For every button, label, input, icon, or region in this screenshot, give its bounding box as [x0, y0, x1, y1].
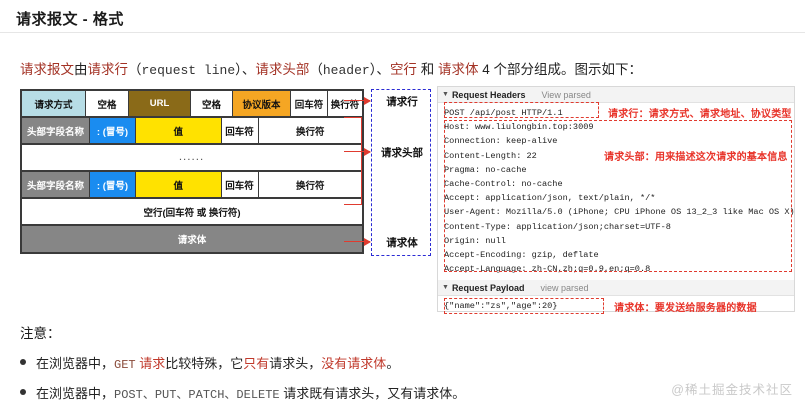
note2-a: 在浏览器中， [36, 386, 114, 401]
request-payload-title: Request Payload [452, 283, 525, 293]
cell-header-name-2: 头部字段名称 [22, 172, 90, 197]
view-parsed-headers-link[interactable]: View parsed [541, 90, 590, 100]
cell-blank-line: 空行(回车符 或 换行符) [22, 199, 362, 224]
subtitle-part-1: 请求报文 [20, 62, 74, 77]
diagram-row-request-line: 请求方式 空格 URL 空格 协议版本 回车符 换行符 [20, 89, 364, 116]
subtitle-part-13: 请求体 [438, 62, 479, 77]
note1-a: 在浏览器中， [36, 356, 114, 371]
note2-methods: POST、PUT、PATCH、DELETE [114, 388, 280, 402]
watermark: @稀土掘金技术社区 [671, 379, 793, 398]
cell-header-value-2: 值 [136, 172, 222, 197]
notes-section: 注意： 在浏览器中，GET 请求比较特殊，它只有请求头，没有请求体。 在浏览器中… [20, 322, 465, 402]
diagram-label-box [371, 89, 431, 256]
annotation-request-line: 请求行：请求方式、请求地址、协议类型 [608, 105, 792, 120]
highlight-request-payload [444, 298, 604, 314]
highlight-request-headers [444, 120, 792, 272]
subtitle-part-14: 4 个部分组成。图示如下： [478, 62, 642, 77]
page-title: 请求报文 - 格式 [16, 8, 124, 29]
cell-protocol-version: 协议版本 [233, 91, 291, 116]
bullet-icon [20, 389, 26, 395]
arrow-to-request-headers [344, 151, 370, 152]
note1-method: GET [114, 358, 136, 372]
diagram-row-header-2: 头部字段名称 : (冒号) 值 回车符 换行符 [20, 170, 364, 197]
cell-cr-1: 回车符 [291, 91, 328, 116]
label-request-headers: 请求头部 [374, 145, 430, 160]
note1-g: 没有请求体 [321, 356, 386, 371]
subtitle-part-4: （ [128, 62, 142, 77]
notes-label: 注意： [20, 322, 465, 342]
cell-space-1: 空格 [86, 91, 129, 116]
subtitle-part-10: ）、 [370, 62, 390, 77]
request-message-diagram: 请求方式 空格 URL 空格 协议版本 回车符 换行符 头部字段名称 : (冒号… [20, 89, 364, 254]
cell-url: URL [129, 91, 191, 116]
label-request-body: 请求体 [374, 235, 430, 250]
subtitle-part-9: header [323, 63, 370, 78]
arrow-to-request-body [344, 241, 370, 242]
cell-lf-1: 换行符 [328, 91, 362, 116]
diagram-row-ellipsis: ...... [20, 143, 364, 170]
note1-h: 。 [386, 356, 399, 371]
request-headers-title: Request Headers [452, 90, 526, 100]
cell-colon-2: : (冒号) [90, 172, 136, 197]
diagram-row-header-1: 头部字段名称 : (冒号) 值 回车符 换行符 [20, 116, 364, 143]
title-divider [0, 32, 805, 33]
page-root: 请求报文 - 格式 请求报文由请求行（request line）、请求头部（he… [0, 0, 805, 404]
caret-down-icon[interactable]: ▼ [442, 284, 449, 291]
note-text-1: 在浏览器中，GET 请求比较特殊，它只有请求头，没有请求体。 [36, 353, 399, 372]
subtitle-part-3: 请求行 [88, 62, 129, 77]
subtitle-part-6: ）、 [235, 62, 255, 77]
subtitle-part-7: 请求头部 [255, 62, 309, 77]
diagram-row-blank-line: 空行(回车符 或 换行符) [20, 197, 364, 224]
subtitle-part-5: request line [142, 63, 236, 78]
highlight-request-line [444, 102, 599, 118]
cell-space-2: 空格 [191, 91, 233, 116]
list-item: 在浏览器中，GET 请求比较特殊，它只有请求头，没有请求体。 [20, 353, 465, 372]
annotation-request-body: 请求体：要发送给服务器的数据 [614, 299, 757, 314]
subtitle-part-12: 和 [417, 62, 438, 77]
note1-e: 只有 [243, 356, 269, 371]
rail-headers-group [344, 117, 362, 205]
bullet-icon [20, 359, 26, 365]
subtitle-part-11: 空行 [390, 62, 417, 77]
cell-header-value-1: 值 [136, 118, 222, 143]
note-text-2: 在浏览器中，POST、PUT、PATCH、DELETE 请求既有请求头，又有请求… [36, 383, 465, 402]
list-item: 在浏览器中，POST、PUT、PATCH、DELETE 请求既有请求头，又有请求… [20, 383, 465, 402]
caret-down-icon[interactable]: ▼ [442, 91, 449, 98]
note1-f: 请求头， [269, 356, 321, 371]
request-headers-section-header[interactable]: ▼ Request Headers View parsed [438, 87, 794, 103]
cell-cr-2: 回车符 [222, 118, 259, 143]
cell-header-name-1: 头部字段名称 [22, 118, 90, 143]
subtitle-part-8: （ [309, 62, 323, 77]
request-payload-section-header[interactable]: ▼ Request Payload view parsed [438, 280, 794, 296]
cell-ellipsis: ...... [22, 145, 362, 170]
cell-request-method: 请求方式 [22, 91, 86, 116]
cell-cr-3: 回车符 [222, 172, 259, 197]
view-parsed-payload-link[interactable]: view parsed [540, 283, 588, 293]
diagram-row-body: 请求体 [20, 224, 364, 254]
subtitle-part-2: 由 [74, 62, 88, 77]
note1-d: 比较特殊，它 [165, 356, 243, 371]
cell-request-body: 请求体 [22, 226, 362, 252]
note1-c: 请求 [136, 356, 166, 371]
arrow-to-request-line [344, 100, 370, 101]
cell-colon-1: : (冒号) [90, 118, 136, 143]
subtitle-line: 请求报文由请求行（request line）、请求头部（header）、空行 和… [20, 58, 642, 78]
label-request-line: 请求行 [374, 94, 430, 109]
note2-c: 请求既有请求头，又有请求体。 [280, 386, 466, 401]
annotation-request-headers: 请求头部：用来描述这次请求的基本信息 [604, 148, 788, 163]
